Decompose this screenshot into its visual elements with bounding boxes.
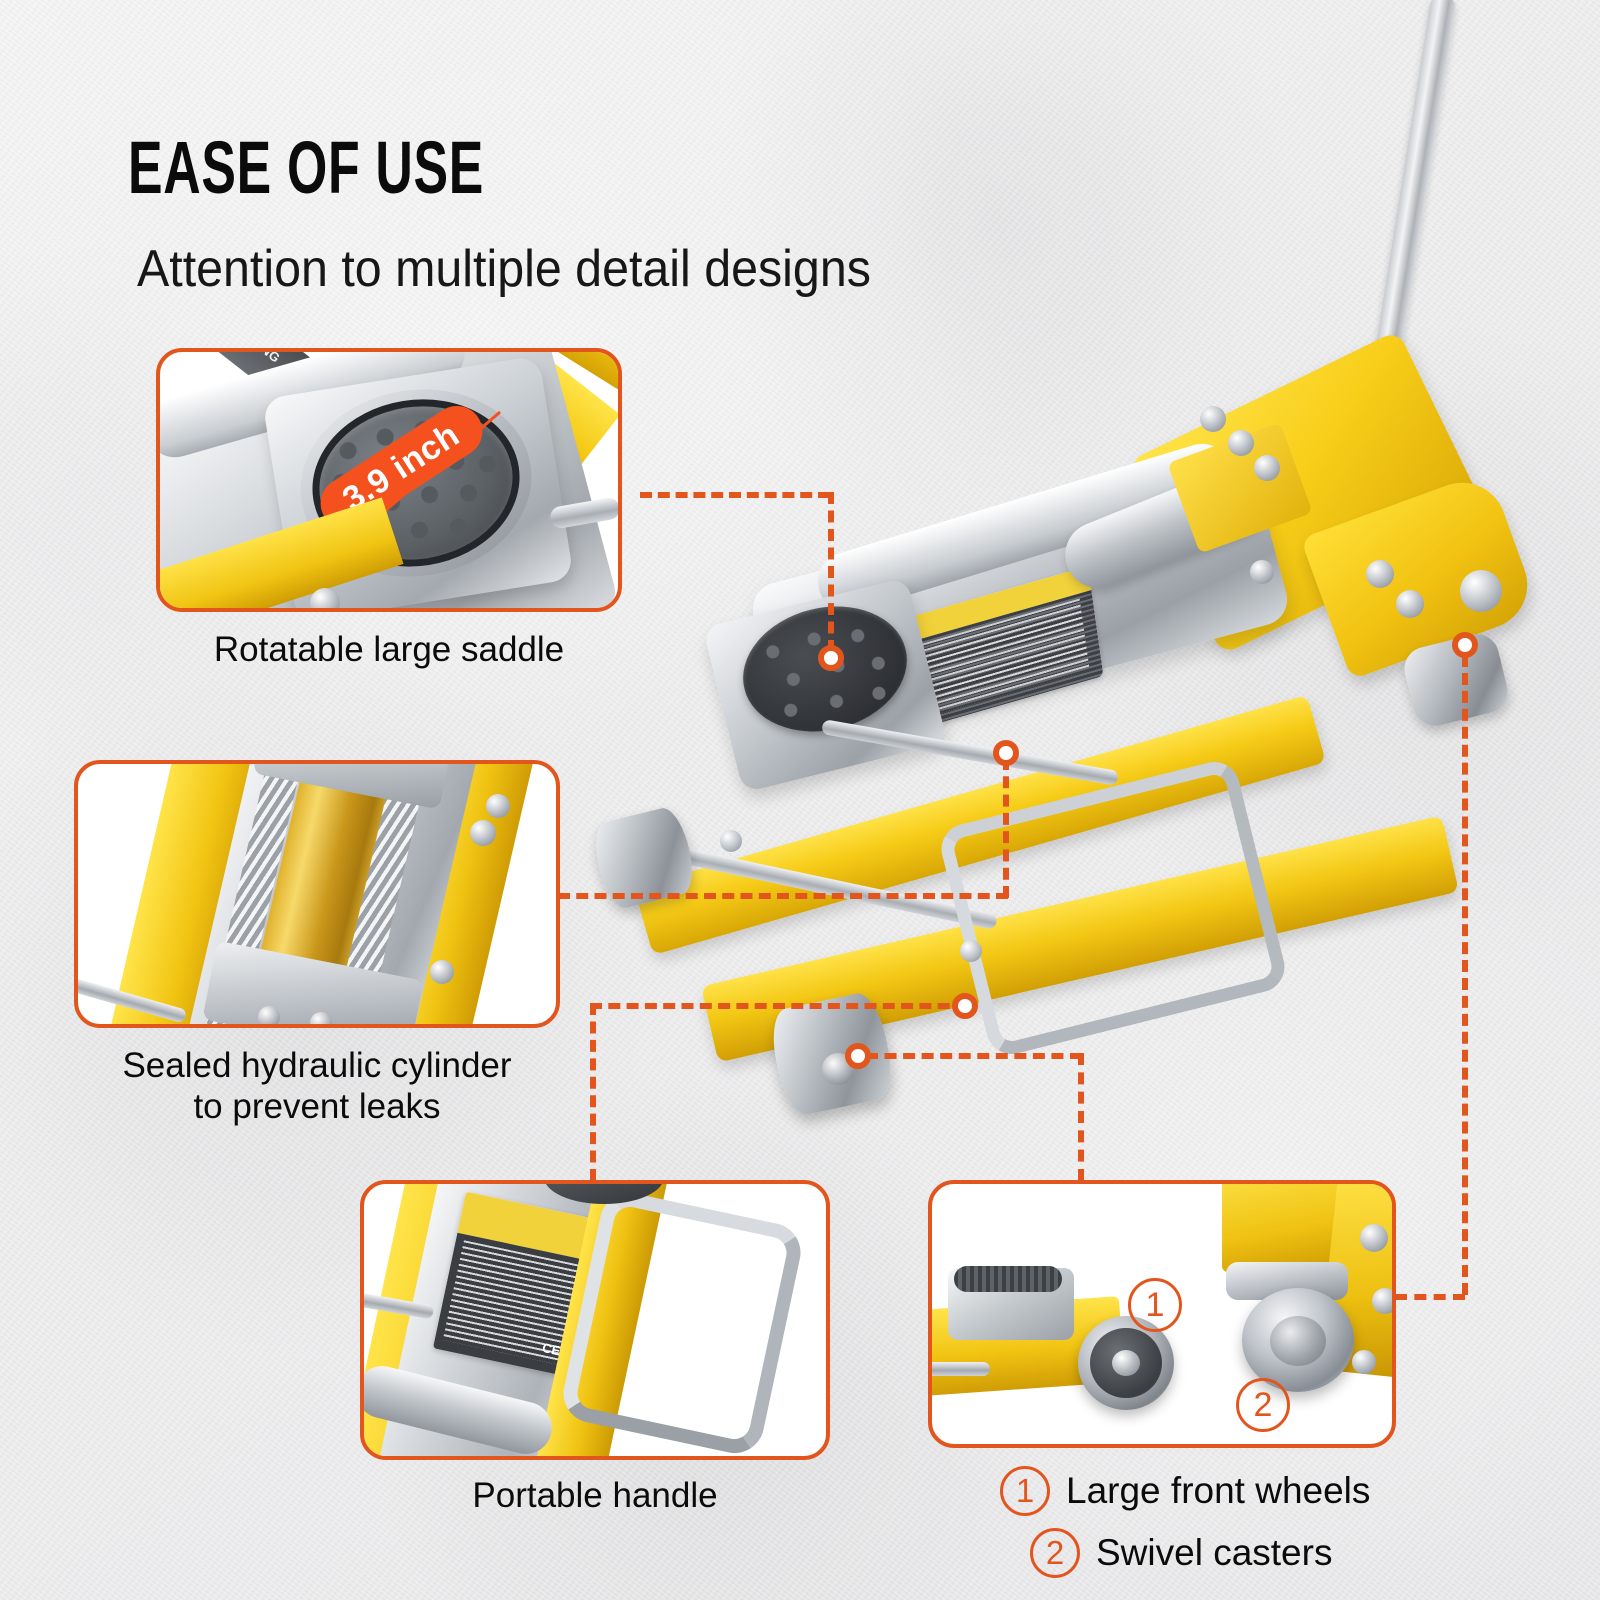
panel2-bolt [486,794,510,818]
connector-line-cylinder-v [1003,758,1009,898]
panel4-axle-rod [932,1362,990,1376]
caption-sealed-cylinder: Sealed hydraulic cylinder to prevent lea… [74,1046,560,1128]
panel-wheels-casters[interactable]: 1 2 [928,1180,1396,1448]
panel2-bolt [430,960,454,984]
page-title: EASE OF USE [128,133,484,203]
connector-line-cylinder-h [558,893,1008,899]
connector-line-wheels-v [1078,1053,1084,1181]
panel4-saddle-rubber [954,1266,1062,1292]
panel4-bolt [1352,1350,1376,1374]
bolt-icon [720,830,742,852]
legend-label-1: Large front wheels [1066,1470,1370,1512]
legend-row-2: 2 Swivel casters [1030,1528,1332,1578]
connector-dot-caster [1452,632,1478,658]
front-wheel-nut [1112,1350,1140,1376]
bolt-icon [1396,590,1424,618]
product-photo-floor-jack [560,0,1600,1160]
panel-rotatable-saddle[interactable]: LD160A JACK LIFTING 3.9 inch [156,348,622,612]
connector-dot-cylinder [993,740,1019,766]
bolt-icon [1200,406,1226,432]
legend-row-1: 1 Large front wheels [1000,1466,1370,1516]
connector-dot-front-wheel [845,1043,871,1069]
panel4-bolt [1372,1288,1392,1314]
infographic-canvas: EASE OF USE Attention to multiple detail… [0,0,1600,1600]
caption-rotatable-saddle: Rotatable large saddle [156,630,622,671]
connector-line-caster-v [1462,655,1468,1295]
connector-dot-saddle [818,645,844,671]
connector-line-handle-h [590,1003,968,1009]
panel2-bolt [470,820,496,846]
rear-pivot-bolt [1460,570,1502,612]
panel4-bolt [1360,1224,1388,1252]
connector-line-wheels-h [866,1053,1082,1059]
bolt-icon [1366,560,1394,588]
legend-number-2: 2 [1030,1528,1080,1578]
bolt-icon [1254,455,1280,481]
swivel-caster-hub [1270,1316,1326,1366]
connector-line-caster-h [1395,1294,1465,1300]
marker-2: 2 [1236,1378,1290,1432]
legend-number-1: 1 [1000,1466,1050,1516]
connector-line-saddle-v [828,492,834,652]
marker-1: 1 [1128,1278,1182,1332]
connector-line-saddle-h [640,492,830,498]
bolt-icon [1228,430,1254,456]
bolt-icon [1250,560,1274,584]
connector-dot-handle [952,993,978,1019]
caption-portable-handle: Portable handle [360,1476,830,1517]
connector-line-handle-v [590,1003,596,1181]
panel-portable-handle[interactable]: CE [360,1180,830,1460]
bolt-icon [960,940,982,962]
panel-sealed-cylinder[interactable] [74,760,560,1028]
legend-label-2: Swivel casters [1096,1532,1332,1574]
panel4-yellow-post [1222,1184,1340,1272]
panel2-bolt [258,1006,280,1024]
